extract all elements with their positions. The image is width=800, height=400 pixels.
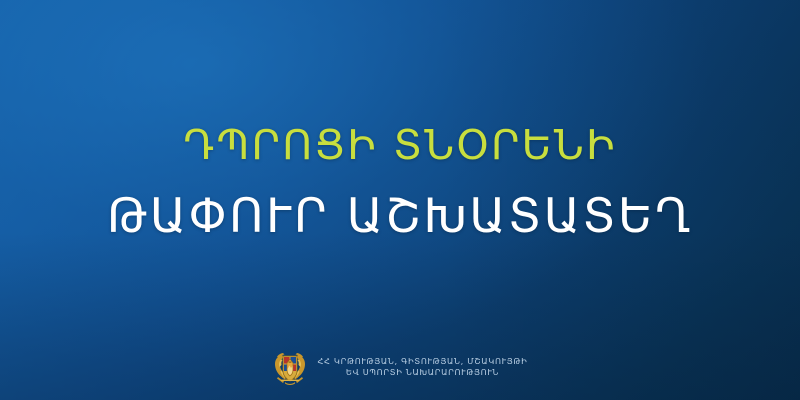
armenia-coat-of-arms-icon	[273, 348, 307, 386]
headline-line-1: ԴՊՐՈՑԻ ՏՆՕՐԵՆԻ	[0, 118, 800, 172]
ministry-name-line-1: ՀՀ ԿՐԹՈՒԹՅԱՆ, ԳԻՏՈՒԹՅԱՆ, ՄՇԱԿՈՒՅԹԻ	[318, 356, 528, 368]
ministry-lockup: ՀՀ ԿՐԹՈՒԹՅԱՆ, ԳԻՏՈՒԹՅԱՆ, ՄՇԱԿՈՒՅԹԻ ԵՎ ՍՊ…	[0, 348, 800, 386]
ministry-name-line-2: ԵՎ ՍՊՈՐՏԻ ՆԱԽԱՐԱՐՈՒԹՅՈՒՆ	[318, 367, 528, 379]
announcement-poster: ԴՊՐՈՑԻ ՏՆՕՐԵՆԻ ԹԱՓՈՒՐ ԱՇԽԱՏԱՏԵՂ	[0, 0, 800, 400]
headline-block: ԴՊՐՈՑԻ ՏՆՕՐԵՆԻ ԹԱՓՈՒՐ ԱՇԽԱՏԱՏԵՂ	[0, 118, 800, 248]
ministry-name: ՀՀ ԿՐԹՈՒԹՅԱՆ, ԳԻՏՈՒԹՅԱՆ, ՄՇԱԿՈՒՅԹԻ ԵՎ ՍՊ…	[318, 356, 528, 379]
headline-line-2: ԹԱՓՈՒՐ ԱՇԽԱՏԱՏԵՂ	[0, 186, 800, 248]
